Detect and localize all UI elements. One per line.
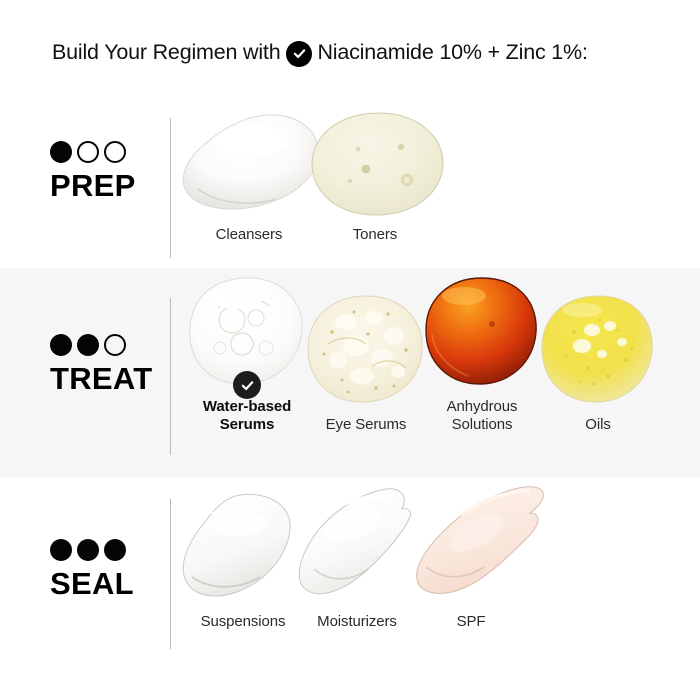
product-category-toners[interactable]: Toners <box>312 111 438 244</box>
swatch-wrap <box>186 274 308 398</box>
swatch-wrap <box>414 485 528 613</box>
product-category-label: Water-based Serums <box>203 398 291 435</box>
product-category-list-treat: Water-based Serums <box>186 274 656 435</box>
product-category-moisturizers[interactable]: Moisturizers <box>300 485 414 631</box>
page-title-text: Build Your Regimen with Niacinamide 10% … <box>52 40 588 66</box>
product-category-label: Cleansers <box>216 226 283 244</box>
product-category-label: Anhydrous Solutions <box>447 398 518 435</box>
step-progress-dots-treat <box>50 334 170 356</box>
step-header-seal: SEAL <box>50 539 170 599</box>
product-category-label: Moisturizers <box>317 613 397 631</box>
product-category-list-prep: Cleansers <box>186 111 438 244</box>
step-header-treat: TREAT <box>50 334 170 394</box>
progress-dot-empty <box>77 141 99 163</box>
product-category-eye-serums[interactable]: Eye Serums <box>308 292 424 434</box>
regimen-step-seal: SEAL Sus <box>0 477 700 700</box>
progress-dot-filled <box>77 334 99 356</box>
regimen-step-treat: TREAT <box>0 268 700 477</box>
product-category-cleansers[interactable]: Cleansers <box>186 111 312 244</box>
swatch-wrap <box>186 111 312 226</box>
product-category-water-based-serums[interactable]: Water-based Serums <box>186 274 308 435</box>
product-category-anhydrous-solutions[interactable]: Anhydrous Solutions <box>424 274 540 435</box>
swatch-wrap <box>300 485 414 613</box>
step-progress-dots-prep <box>50 141 170 163</box>
swatch-yellow-oil-drop <box>536 292 662 416</box>
swatch-cream-bubble-gel <box>302 292 432 416</box>
step-divider <box>170 298 171 455</box>
swatch-wrap <box>540 292 656 416</box>
progress-dot-filled <box>50 334 72 356</box>
title-suffix: Niacinamide 10% + Zinc 1%: <box>317 40 587 65</box>
swatch-wrap <box>308 292 424 416</box>
step-divider <box>170 118 171 258</box>
product-category-oils[interactable]: Oils <box>540 292 656 434</box>
product-category-suspensions[interactable]: Suspensions <box>186 485 300 631</box>
swatch-wrap <box>312 111 438 226</box>
product-category-label: Oils <box>585 416 610 434</box>
selected-check-icon <box>233 371 261 399</box>
step-name-seal: SEAL <box>50 568 170 599</box>
product-category-label: Eye Serums <box>326 416 407 434</box>
swatch-ivory-gel-disc <box>306 111 456 226</box>
progress-dot-filled <box>77 539 99 561</box>
step-header-prep: PREP <box>50 141 170 201</box>
progress-dot-empty <box>104 334 126 356</box>
swatch-wrap <box>186 485 300 613</box>
swatch-pink-cream-swipe <box>406 485 558 613</box>
product-category-label: Toners <box>353 226 397 244</box>
step-name-prep: PREP <box>50 170 170 201</box>
step-name-treat: TREAT <box>50 363 170 394</box>
product-category-list-seal: Suspensions Mo <box>186 485 528 631</box>
swatch-amber-oil-drop <box>420 274 546 398</box>
regimen-step-prep: PREP Cleansers <box>0 105 700 268</box>
progress-dot-filled <box>104 539 126 561</box>
step-progress-dots-seal <box>50 539 170 561</box>
progress-dot-empty <box>104 141 126 163</box>
check-circle-icon <box>286 41 312 67</box>
page-title: Build Your Regimen with Niacinamide 10% … <box>0 0 700 105</box>
swatch-wrap <box>424 274 540 398</box>
title-prefix: Build Your Regimen with <box>52 40 280 65</box>
progress-dot-filled <box>50 141 72 163</box>
progress-dot-filled <box>50 539 72 561</box>
product-category-label: SPF <box>457 613 486 631</box>
step-divider <box>170 499 171 649</box>
product-category-label: Suspensions <box>201 613 286 631</box>
product-category-spf[interactable]: SPF <box>414 485 528 631</box>
